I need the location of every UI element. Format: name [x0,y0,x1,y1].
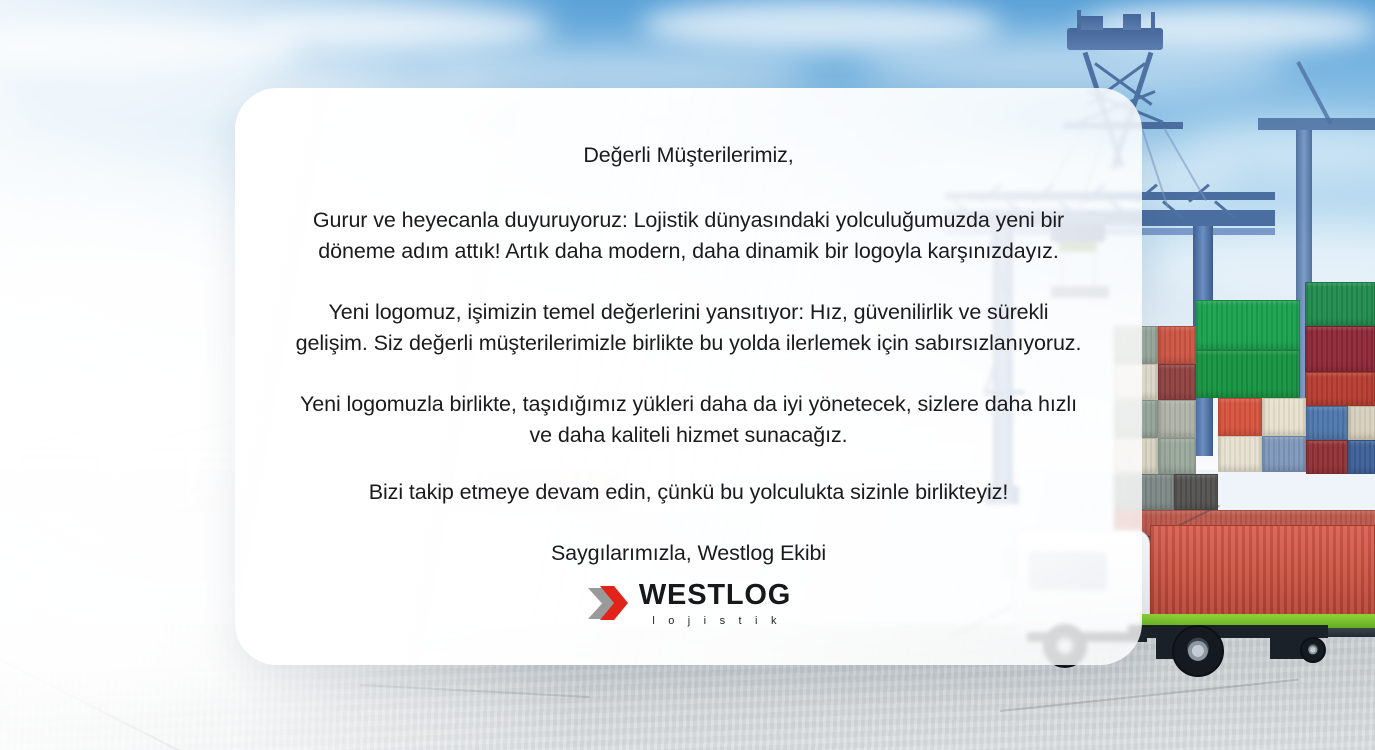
announcement-graphic: Değerli Müşterilerimiz, Gurur ve heyecan… [0,0,1375,750]
double-chevron-arrow-icon [586,584,630,624]
signoff-text: Saygılarımızla, Westlog Ekibi [293,538,1084,569]
red-shipping-container [1150,525,1375,615]
logo-tagline: l o j i s t i k [639,615,791,627]
paragraph-3: Yeni logomuzla birlikte, taşıdığımız yük… [293,389,1084,451]
westlog-logo: WESTLOG l o j i s t i k [586,581,791,641]
paragraph-1: Gurur ve heyecanla duyuruyoruz: Lojistik… [293,205,1084,267]
announcement-card: Değerli Müşterilerimiz, Gurur ve heyecan… [235,88,1142,665]
greeting-text: Değerli Müşterilerimiz, [293,140,1084,171]
paragraph-4: Bizi takip etmeye devam edin, çünkü bu y… [293,477,1084,508]
announcement-body: Değerli Müşterilerimiz, Gurur ve heyecan… [293,126,1084,581]
logo-text: WESTLOG l o j i s t i k [639,581,791,627]
logo-wordmark: WESTLOG [639,581,791,610]
paragraph-2: Yeni logomuz, işimizin temel değerlerini… [293,297,1084,359]
